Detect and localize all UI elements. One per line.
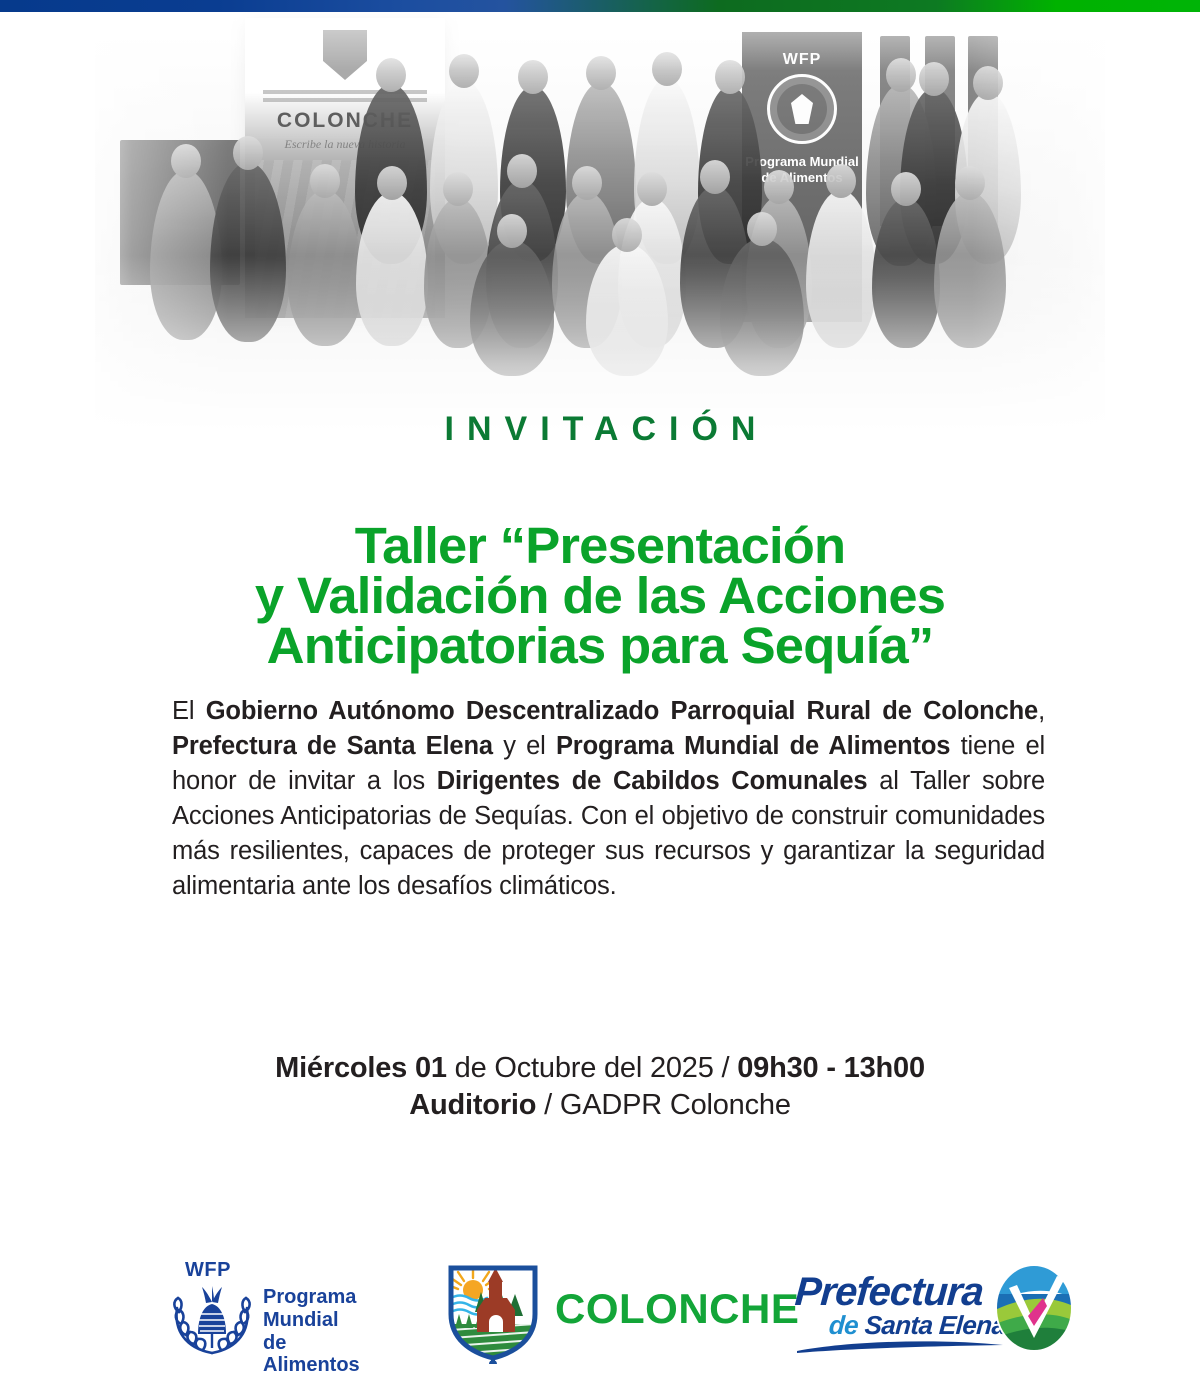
photo-person-head (377, 166, 407, 200)
photo-wfp-acronym: WFP (742, 52, 862, 68)
event-place-line: Auditorio / GADPR Colonche (0, 1087, 1200, 1124)
photo-person-head (376, 58, 406, 92)
prefectura-logo: Prefectura de Santa Elena (795, 1264, 1055, 1356)
event-time: 09h30 - 13h00 (737, 1052, 925, 1084)
photo-wfp-emblem-icon (767, 74, 837, 144)
photo-person-head (764, 170, 794, 204)
title-line-2: y Validación de las Acciones (0, 571, 1200, 621)
page-title: Taller “Presentación y Validación de las… (0, 521, 1200, 671)
title-line-3: Anticipatorias para Sequía” (0, 621, 1200, 671)
header-photo: COLONCHE Escribe la nueva historia WFP P… (0, 12, 1200, 432)
photo-person-head (747, 212, 777, 246)
photo-person-head (955, 166, 985, 200)
photo-person-head (449, 54, 479, 88)
event-date-bold: Miércoles 01 (275, 1052, 447, 1084)
colonche-logo: COLONCHE (437, 1252, 737, 1364)
prefectura-emblem-icon (995, 1264, 1073, 1352)
prefectura-wordmark-line2: de Santa Elena (828, 1312, 1006, 1338)
body-seg-6-bold: Programa Mundial de Alimentos (556, 732, 950, 760)
prefectura-wordmark-line1: Prefectura (794, 1272, 985, 1312)
wfp-logo: WFP (163, 1260, 378, 1360)
invitation-body: El Gobierno Autónomo Descentralizado Par… (172, 694, 1045, 904)
photo-person-head (310, 164, 340, 198)
body-seg-3: , (1038, 697, 1045, 725)
wfp-acronym: WFP (185, 1260, 231, 1280)
photo-person-head (572, 166, 602, 200)
photo-person-head (612, 218, 642, 252)
event-date-rest: de Octubre del 2025 / (447, 1052, 737, 1084)
title-line-1: Taller “Presentación (0, 521, 1200, 571)
photo-person-head (518, 60, 548, 94)
event-details: Miércoles 01 de Octubre del 2025 / 09h30… (0, 1050, 1200, 1124)
body-seg-5: y el (493, 732, 556, 760)
photo-person-head (637, 172, 667, 206)
event-venue-rest: / GADPR Colonche (536, 1089, 791, 1121)
colonche-crest-icon (323, 30, 367, 80)
photo-person-head (886, 58, 916, 92)
photo-person-head (973, 66, 1003, 100)
photo-person-head (443, 172, 473, 206)
photo-person-head (715, 60, 745, 94)
wfp-wordmark: Programa Mundial de Alimentos (263, 1286, 378, 1377)
top-gradient-bar (0, 0, 1200, 12)
photo-person-head (700, 160, 730, 194)
event-date-line: Miércoles 01 de Octubre del 2025 / 09h30… (0, 1050, 1200, 1087)
body-seg-4-bold: Prefectura de Santa Elena (172, 732, 493, 760)
photo-person-head (586, 56, 616, 90)
photo-person-head (507, 154, 537, 188)
prefectura-de: de (828, 1310, 866, 1340)
photo-person-head (826, 164, 856, 198)
body-seg-1: El (172, 697, 206, 725)
page-eyebrow: INVITACIÓN (0, 412, 1200, 446)
body-seg-8-bold: Dirigentes de Cabildos Comunales (437, 767, 868, 795)
wfp-wreath-icon (169, 1282, 255, 1356)
invitation-poster: COLONCHE Escribe la nueva historia WFP P… (0, 0, 1200, 1400)
colonche-wordmark: COLONCHE (555, 1288, 799, 1330)
photo-person-head (652, 52, 682, 86)
group-photo-image: COLONCHE Escribe la nueva historia WFP P… (0, 12, 1200, 432)
logo-strip: WFP (0, 1252, 1200, 1372)
body-seg-2-bold: Gobierno Autónomo Descentralizado Parroq… (206, 697, 1038, 725)
prefectura-santa-elena: Santa Elena (864, 1310, 1007, 1340)
event-venue: Auditorio (409, 1089, 536, 1121)
prefectura-swoosh-icon (795, 1338, 1005, 1354)
photo-person-head (891, 172, 921, 206)
photo-person-head (171, 144, 201, 178)
photo-person-head (919, 62, 949, 96)
colonche-shield-icon (437, 1252, 549, 1364)
photo-person-head (233, 136, 263, 170)
photo-person-head (497, 214, 527, 248)
